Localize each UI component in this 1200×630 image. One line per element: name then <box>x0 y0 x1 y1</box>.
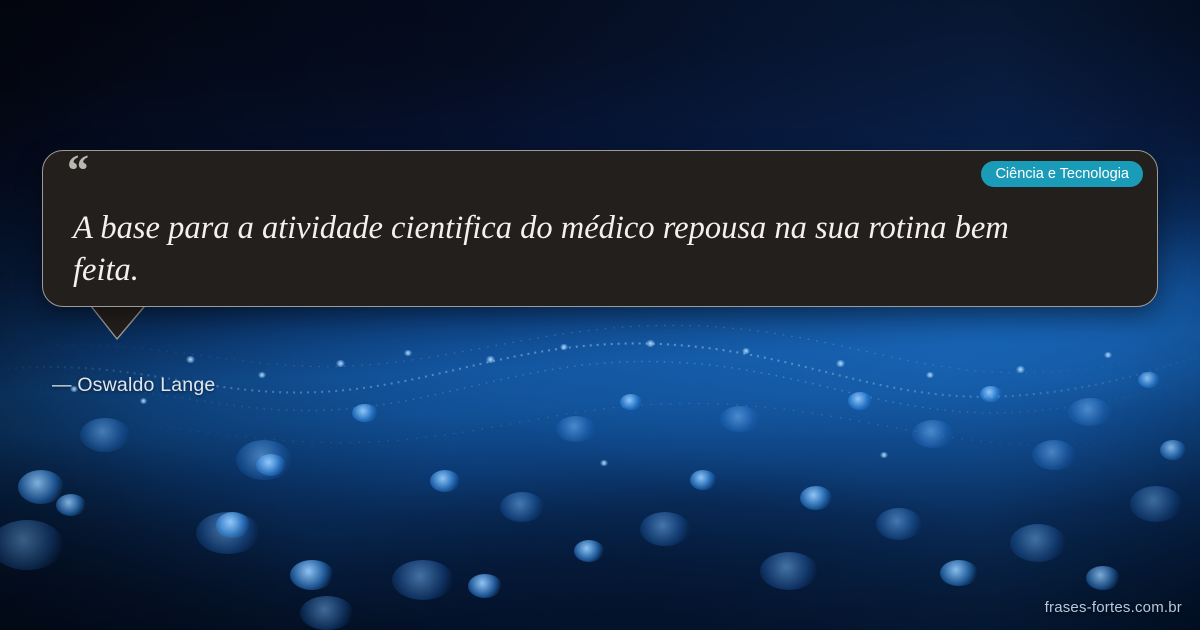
category-badge-label: Ciência e Tecnologia <box>995 167 1129 182</box>
quote-card: “ Ciência e Tecnologia A base para a ati… <box>42 150 1158 307</box>
quote-card-image: “ Ciência e Tecnologia A base para a ati… <box>0 0 1200 630</box>
quote-text: A base para a atividade cientifica do mé… <box>73 207 1073 291</box>
quote-author: — Oswaldo Lange <box>52 374 215 397</box>
background-vignette <box>0 0 1200 630</box>
category-badge[interactable]: Ciência e Tecnologia <box>981 161 1143 187</box>
site-watermark: frases-fortes.com.br <box>1045 599 1182 616</box>
open-quote-icon: “ <box>67 149 88 193</box>
